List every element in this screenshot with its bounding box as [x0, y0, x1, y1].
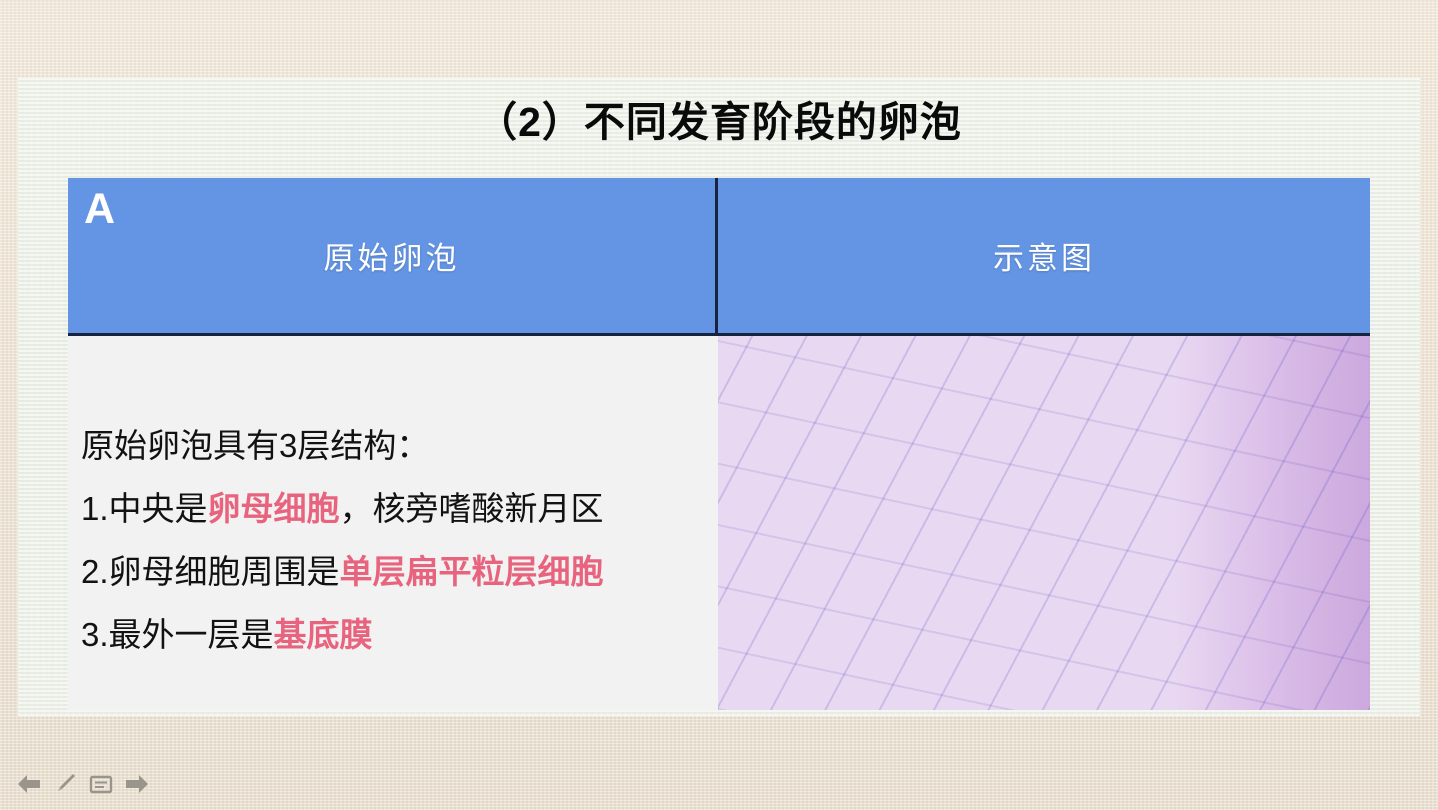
description-line-0: 原始卵泡具有3层结构：: [81, 414, 711, 477]
comparison-table: A 原始卵泡 示意图 原始卵泡具有3层结构：1.中央是卵母细胞，核旁嗜酸新月区2…: [68, 178, 1370, 710]
table-header-row: A 原始卵泡 示意图: [68, 178, 1370, 336]
table-header-label-0: 原始卵泡: [324, 233, 460, 278]
highlighted-term: 基底膜: [274, 616, 373, 653]
description-line-2: 2.卵母细胞周围是单层扁平粒层细胞: [81, 540, 711, 603]
notes-icon[interactable]: [86, 770, 116, 798]
description-text-block: 原始卵泡具有3层结构：1.中央是卵母细胞，核旁嗜酸新月区2.卵母细胞周围是单层扁…: [81, 414, 711, 666]
panel-label-a: A: [84, 186, 115, 232]
table-cell-description: 原始卵泡具有3层结构：1.中央是卵母细胞，核旁嗜酸新月区2.卵母细胞周围是单层扁…: [68, 336, 718, 710]
table-header-cell-right: 示意图: [718, 178, 1370, 333]
table-body-row: 原始卵泡具有3层结构：1.中央是卵母细胞，核旁嗜酸新月区2.卵母细胞周围是单层扁…: [68, 336, 1370, 710]
description-line-1: 1.中央是卵母细胞，核旁嗜酸新月区: [81, 477, 711, 540]
plain-text: 2.卵母细胞周围是: [81, 553, 340, 590]
slide-canvas: （2）不同发育阶段的卵泡 A 原始卵泡 示意图 原始卵泡具有3层结构：1.中央是…: [18, 78, 1420, 716]
table-header-cell-left: A 原始卵泡: [68, 178, 718, 333]
highlighted-term: 单层扁平粒层细胞: [340, 553, 604, 590]
pen-icon[interactable]: [50, 770, 80, 798]
presentation-page: （2）不同发育阶段的卵泡 A 原始卵泡 示意图 原始卵泡具有3层结构：1.中央是…: [0, 0, 1438, 810]
plain-text: 3.最外一层是: [81, 616, 274, 653]
highlighted-term: 卵母细胞: [208, 490, 340, 527]
histology-micrograph-image: [718, 336, 1370, 710]
description-line-3: 3.最外一层是基底膜: [81, 603, 711, 666]
previous-slide-icon[interactable]: [14, 770, 44, 798]
table-header-label-1: 示意图: [993, 233, 1095, 278]
table-cell-micrograph: [718, 336, 1370, 710]
slide-toolbar[interactable]: [14, 770, 152, 798]
plain-text: 原始卵泡具有3层结构：: [81, 427, 429, 464]
page-title: （2）不同发育阶段的卵泡: [18, 96, 1420, 148]
next-slide-icon[interactable]: [122, 770, 152, 798]
plain-text: ，核旁嗜酸新月区: [340, 490, 604, 527]
plain-text: 1.中央是: [81, 490, 208, 527]
